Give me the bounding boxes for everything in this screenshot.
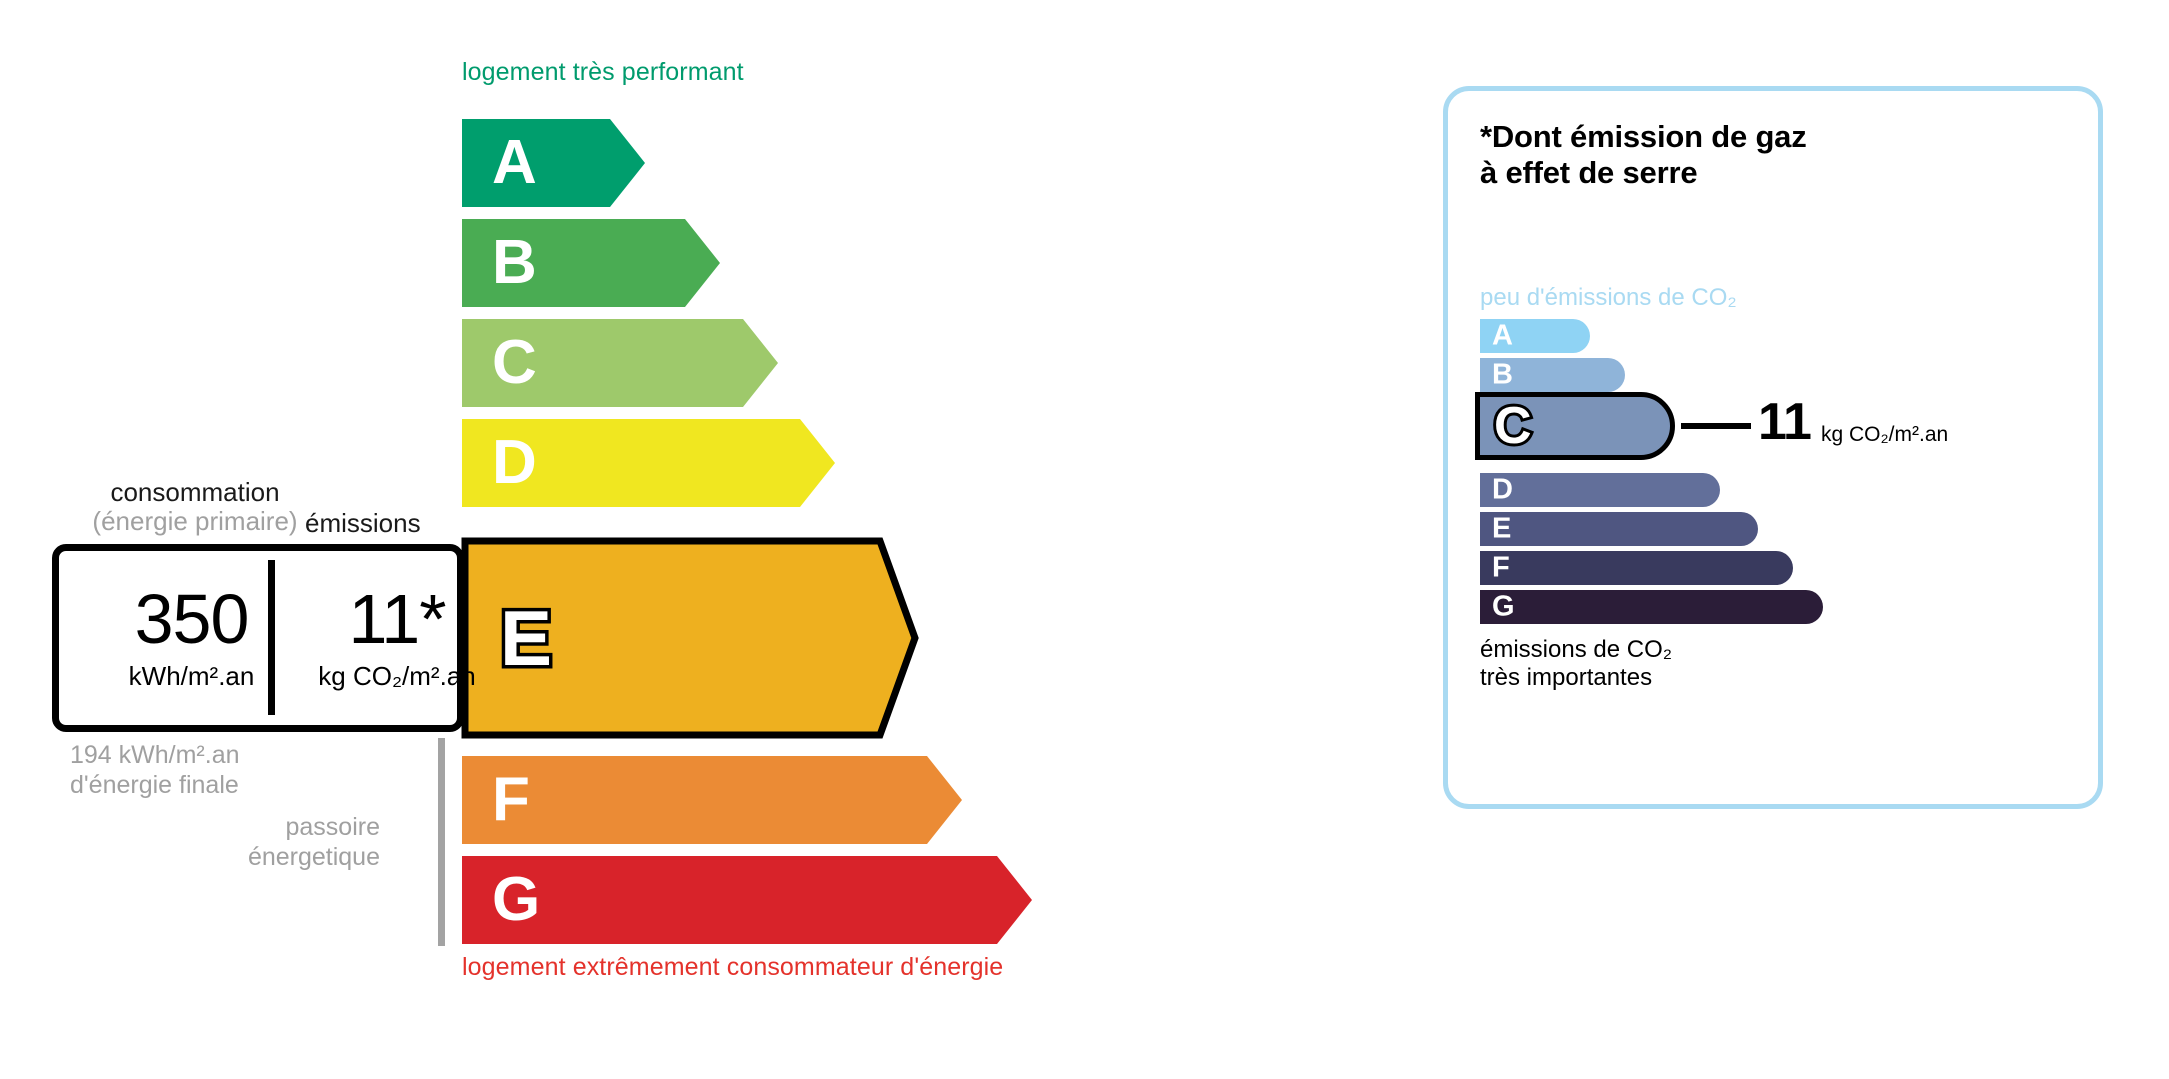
energy-bar-c-letter: C — [492, 332, 537, 394]
ges-bar-c-letter: C — [1494, 400, 1532, 452]
passoire-line-2: énergetique — [170, 842, 380, 872]
energy-bar-a[interactable]: A — [462, 119, 645, 207]
energy-value: 350 — [135, 584, 249, 654]
energy-bar-d[interactable]: D — [462, 419, 835, 507]
ges-title-line-1: *Dont émission de gaz — [1480, 119, 1807, 155]
ges-bar-b[interactable]: B — [1480, 358, 1625, 392]
ges-bar-c-selected[interactable]: C — [1475, 392, 1675, 460]
energy-bar-d-letter: D — [492, 432, 537, 494]
consumption-label-line-1: consommation — [70, 478, 320, 507]
energy-scale-bottom-caption: logement extrêmement consommateur d'éner… — [462, 953, 1003, 982]
consumption-label: consommation (énergie primaire) — [70, 478, 320, 536]
ges-title-line-2: à effet de serre — [1480, 155, 1807, 191]
energy-bar-b-letter: B — [492, 232, 537, 294]
ges-bottom-caption-line-2: très importantes — [1480, 664, 1672, 692]
ges-bar-g-letter: G — [1492, 593, 1515, 622]
energy-scale-top-caption: logement très performant — [462, 58, 744, 87]
ges-bar-a-letter: A — [1492, 322, 1513, 351]
final-energy-note: 194 kWh/m².an d'énergie finale — [70, 740, 240, 800]
energy-bar-f-letter: F — [492, 769, 530, 831]
energy-performance-scale: logement très performant A B C D E F G l… — [0, 0, 1300, 1079]
ges-bar-g[interactable]: G — [1480, 590, 1823, 624]
consumption-value-box: 350 kWh/m².an 11* kg CO₂/m².an — [52, 544, 464, 732]
ges-bar-e[interactable]: E — [1480, 512, 1758, 546]
energy-bar-e-letter: E — [500, 599, 552, 677]
ges-value: 11 — [1758, 396, 1811, 448]
ges-bar-f-letter: F — [1492, 554, 1510, 583]
ges-bar-e-letter: E — [1492, 515, 1511, 544]
passoire-energetique-label: passoire énergetique — [170, 812, 380, 872]
energy-value-block: 350 kWh/m².an — [64, 551, 319, 725]
ges-panel-title: *Dont émission de gaz à effet de serre — [1480, 119, 1807, 190]
final-energy-line-2: d'énergie finale — [70, 770, 240, 800]
ges-bottom-caption-line-1: émissions de CO₂ — [1480, 636, 1672, 664]
ges-value-unit: kg CO₂/m².an — [1821, 423, 1948, 447]
ges-leader-line — [1681, 423, 1751, 429]
ges-top-caption: peu d'émissions de CO₂ — [1480, 284, 1737, 312]
ges-bar-b-letter: B — [1492, 361, 1513, 390]
energy-bar-g-letter: G — [492, 869, 540, 931]
consumption-box-divider — [268, 560, 275, 715]
energy-bar-a-letter: A — [492, 132, 537, 194]
co2-value: 11* — [349, 584, 446, 654]
ges-bottom-caption: émissions de CO₂ très importantes — [1480, 636, 1672, 693]
passoire-energetique-bracket — [438, 738, 445, 946]
energy-value-unit: kWh/m².an — [129, 661, 255, 692]
energy-bar-c[interactable]: C — [462, 319, 778, 407]
energy-bar-g[interactable]: G — [462, 856, 1032, 944]
energy-bar-b[interactable]: B — [462, 219, 720, 307]
co2-value-unit: kg CO₂/m².an — [318, 661, 475, 692]
final-energy-line-1: 194 kWh/m².an — [70, 740, 240, 770]
ges-emissions-panel: *Dont émission de gaz à effet de serre p… — [1443, 86, 2103, 809]
emissions-label: émissions — [305, 508, 421, 539]
energy-bar-e-selected[interactable]: E — [462, 538, 922, 738]
ges-bar-d[interactable]: D — [1480, 473, 1720, 507]
energy-bar-f[interactable]: F — [462, 756, 962, 844]
ges-bar-f[interactable]: F — [1480, 551, 1793, 585]
passoire-line-1: passoire — [170, 812, 380, 842]
consumption-label-line-2: (énergie primaire) — [70, 507, 320, 536]
ges-bar-a[interactable]: A — [1480, 319, 1590, 353]
ges-bar-d-letter: D — [1492, 476, 1513, 505]
co2-value-block: 11* kg CO₂/m².an — [327, 551, 467, 725]
